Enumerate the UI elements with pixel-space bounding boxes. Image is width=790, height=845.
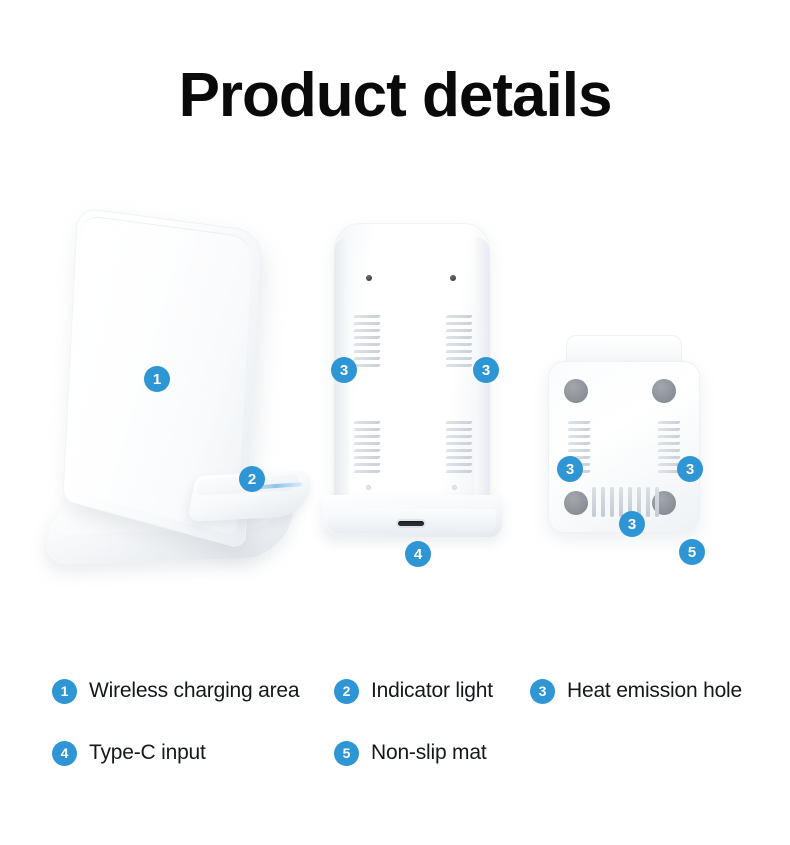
legend-item-type-c-input: 4 Type-C input: [52, 741, 334, 766]
legend-item-wireless-charging-area: 1 Wireless charging area: [52, 679, 334, 704]
legend-label-2: Indicator light: [371, 679, 493, 703]
legend: 1 Wireless charging area 2 Indicator lig…: [0, 660, 790, 784]
legend-label-1: Wireless charging area: [89, 679, 299, 703]
callout-badge-2-indicator-light: 2: [239, 466, 265, 492]
product-view-rear: [322, 223, 502, 571]
product-details-page: Product details: [0, 0, 790, 845]
callout-badge-3-bottom-vent-center: 3: [619, 511, 645, 537]
callout-badge-3-rear-vent-right: 3: [473, 357, 499, 383]
non-slip-pad-bottom-left: [564, 491, 588, 515]
legend-label-4: Type-C input: [89, 741, 206, 765]
page-title: Product details: [0, 62, 790, 130]
rear-hinge-dot-left: [366, 485, 371, 490]
legend-badge-4: 4: [52, 741, 77, 766]
legend-item-non-slip-mat: 5 Non-slip mat: [334, 741, 530, 766]
vent-group-rear-top-right: [446, 315, 472, 367]
product-view-angled: [42, 205, 312, 575]
vent-group-rear-bottom-right: [446, 421, 472, 473]
legend-row-2: 4 Type-C input 5 Non-slip mat: [0, 722, 790, 784]
legend-item-heat-emission-hole: 3 Heat emission hole: [530, 679, 760, 704]
screw-right-icon: [450, 275, 456, 281]
legend-row-1: 1 Wireless charging area 2 Indicator lig…: [0, 660, 790, 722]
legend-label-3: Heat emission hole: [567, 679, 742, 703]
legend-badge-1: 1: [52, 679, 77, 704]
legend-badge-5: 5: [334, 741, 359, 766]
callout-badge-5-non-slip-mat: 5: [679, 539, 705, 565]
vent-group-rear-top-left: [354, 315, 380, 367]
legend-badge-2: 2: [334, 679, 359, 704]
callout-badge-1-charging-area: 1: [144, 366, 170, 392]
screw-left-icon: [366, 275, 372, 281]
non-slip-pad-top-right: [652, 379, 676, 403]
rear-hinge-dot-right: [452, 485, 457, 490]
usb-c-port-icon: [396, 519, 426, 528]
callout-badge-3-bottom-vent-left: 3: [557, 456, 583, 482]
callout-badge-3-bottom-vent-right: 3: [677, 456, 703, 482]
legend-item-indicator-light: 2 Indicator light: [334, 679, 530, 704]
vent-group-rear-bottom-left: [354, 421, 380, 473]
non-slip-pad-top-left: [564, 379, 588, 403]
legend-label-5: Non-slip mat: [371, 741, 486, 765]
callout-badge-3-rear-vent-left: 3: [331, 357, 357, 383]
product-showcase: 1 2 3 3 4 3 3 3 5: [0, 195, 790, 595]
callout-badge-4-type-c-input: 4: [405, 541, 431, 567]
legend-badge-3: 3: [530, 679, 555, 704]
